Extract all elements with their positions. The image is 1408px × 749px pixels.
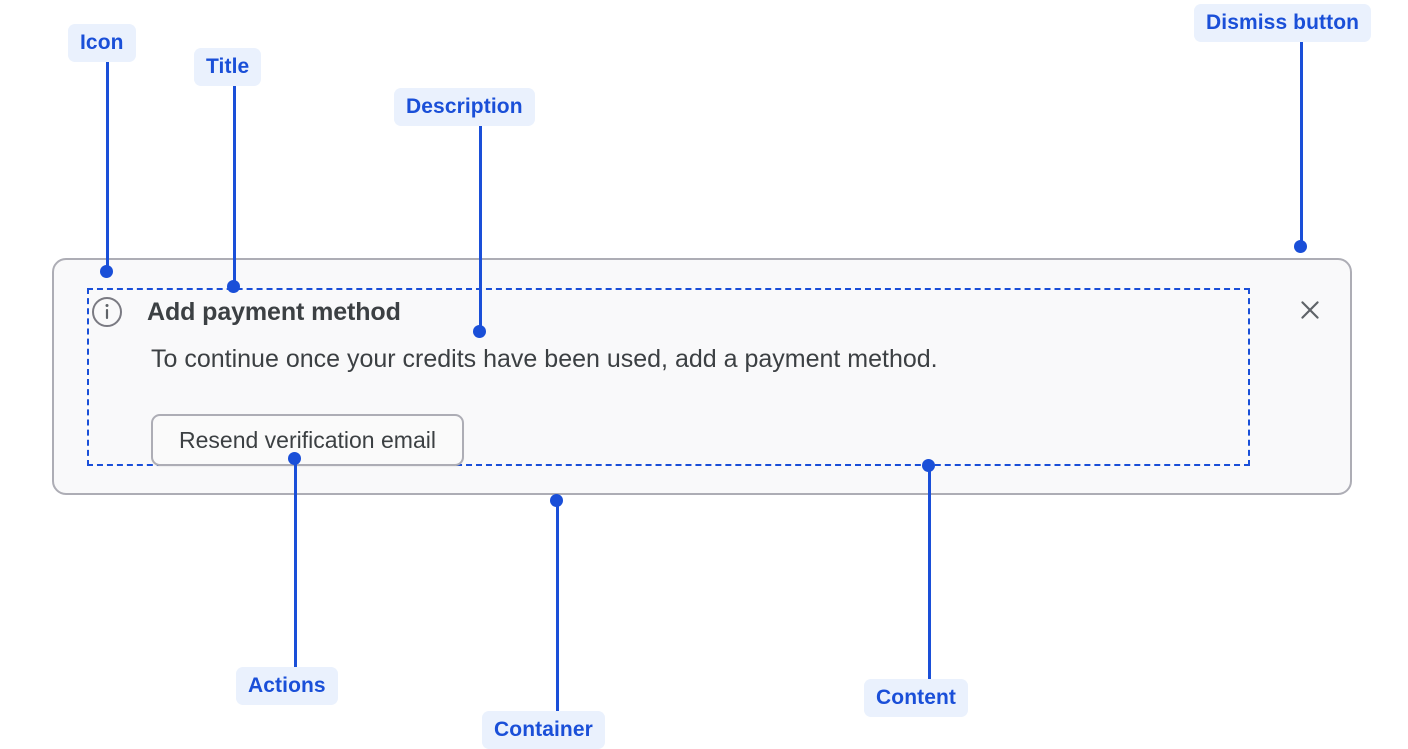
alert-header: Add payment method [91,296,401,328]
annotation-dot-container [550,494,563,507]
info-circle-icon [91,296,123,328]
annotation-line-container [556,501,559,711]
annotation-line-title [233,82,236,285]
annotation-label-dismiss-button: Dismiss button [1194,4,1371,42]
alert-description: To continue once your credits have been … [151,344,938,374]
resend-verification-email-button[interactable]: Resend verification email [151,414,464,466]
annotation-label-container: Container [482,711,605,749]
annotation-dot-dismiss-button [1294,240,1307,253]
alert-container: Add payment method To continue once your… [52,258,1352,495]
annotation-label-description: Description [394,88,535,126]
annotation-line-icon [106,58,109,270]
annotation-label-actions: Actions [236,667,338,705]
annotation-label-content: Content [864,679,968,717]
dismiss-button[interactable] [1292,292,1328,328]
alert-content-region: Add payment method To continue once your… [87,288,1250,466]
alert-actions: Resend verification email [151,414,464,466]
annotation-line-content [928,466,931,679]
alert-title: Add payment method [147,300,401,325]
annotation-line-dismiss-button [1300,38,1303,245]
annotation-label-icon: Icon [68,24,136,62]
close-x-icon [1297,297,1323,323]
annotation-label-title: Title [194,48,261,86]
